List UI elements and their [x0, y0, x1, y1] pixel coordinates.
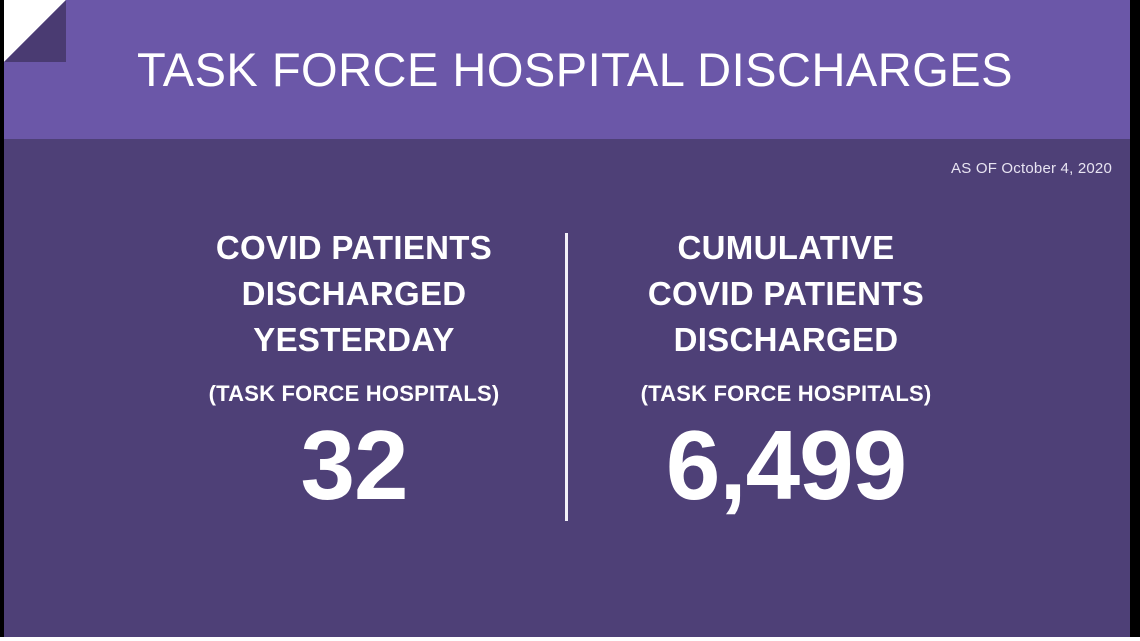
stat-card-cumulative-discharged: CUMULATIVE COVID PATIENTS DISCHARGED (TA…	[586, 225, 986, 515]
letterbox-bottom	[0, 637, 1140, 641]
stat-value: 6,499	[666, 415, 906, 515]
folded-corner-dark	[4, 0, 66, 62]
stat-heading-line: YESTERDAY	[216, 317, 492, 363]
column-divider	[565, 233, 568, 521]
stat-heading-line: DISCHARGED	[648, 317, 924, 363]
stats-container: COVID PATIENTS DISCHARGED YESTERDAY (TAS…	[4, 225, 1130, 535]
stat-heading-line: COVID PATIENTS	[216, 225, 492, 271]
slide-canvas: TASK FORCE HOSPITAL DISCHARGES AS OF Oct…	[4, 0, 1130, 637]
stat-subtitle: (TASK FORCE HOSPITALS)	[641, 379, 932, 409]
slide: TASK FORCE HOSPITAL DISCHARGES AS OF Oct…	[0, 0, 1140, 641]
stat-heading: COVID PATIENTS DISCHARGED YESTERDAY	[216, 225, 492, 363]
stat-card-discharged-yesterday: COVID PATIENTS DISCHARGED YESTERDAY (TAS…	[154, 225, 554, 515]
letterbox-right	[1130, 0, 1140, 637]
header-band: TASK FORCE HOSPITAL DISCHARGES	[4, 0, 1130, 139]
stat-heading: CUMULATIVE COVID PATIENTS DISCHARGED	[648, 225, 924, 363]
letterbox-left	[0, 0, 4, 637]
stat-value: 32	[300, 415, 407, 515]
folded-corner-icon	[4, 0, 66, 62]
stat-heading-line: DISCHARGED	[216, 271, 492, 317]
stat-subtitle: (TASK FORCE HOSPITALS)	[209, 379, 500, 409]
stat-heading-line: CUMULATIVE	[648, 225, 924, 271]
as-of-date: AS OF October 4, 2020	[951, 160, 1112, 177]
stat-heading-line: COVID PATIENTS	[648, 271, 924, 317]
page-title: TASK FORCE HOSPITAL DISCHARGES	[4, 0, 1130, 139]
